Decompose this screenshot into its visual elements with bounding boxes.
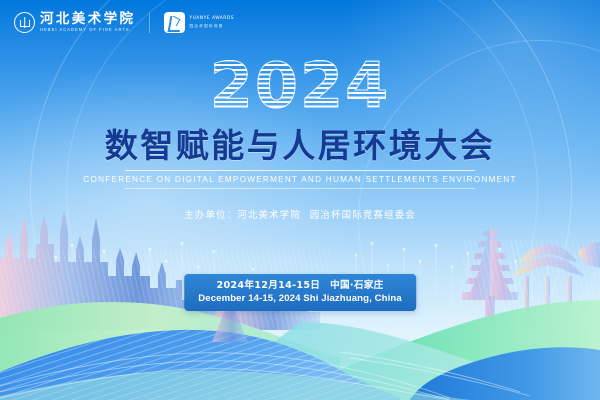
header-logo-bar: 河北美术学院 HEBEI ACADEMY OF FINE ARTS YUANYE…: [14, 12, 234, 33]
title-rule-bottom: [125, 188, 475, 189]
title-rule-top: [125, 170, 475, 171]
university-logo[interactable]: 河北美术学院 HEBEI ACADEMY OF FINE ARTS: [14, 12, 135, 33]
page-subtitle: CONFERENCE ON DIGITAL EMPOWERMENT AND HU…: [0, 174, 600, 186]
hill-foreground-deep: [410, 347, 600, 400]
hill-front-wash: [0, 370, 470, 400]
date-cn-text: 2024年12月14-15日 中国·石家庄: [198, 279, 402, 292]
hero-title-block: 数智赋能与人居环境大会 CONFERENCE ON DIGITAL EMPOWE…: [0, 126, 600, 189]
date-en-text: December 14-15, 2024 Shi Jiazhuang, Chin…: [198, 292, 402, 305]
page-title: 数智赋能与人居环境大会: [0, 126, 600, 166]
hill-far-right-green: [330, 300, 600, 400]
partner-name-cn: 园冶杯国际竞赛: [189, 24, 234, 29]
year-display: 2024: [0, 55, 600, 117]
organizer-label: 主办单位：: [184, 210, 237, 221]
hill-mid-blue: [0, 330, 400, 400]
hill-center-teal: [200, 322, 600, 400]
date-location-badge: 2024年12月14-15日 中国·石家庄 December 14-15, 20…: [184, 274, 416, 311]
partner-name-en: YUANYE AWARDS: [189, 16, 234, 22]
conference-poster: 河北美术学院 HEBEI ACADEMY OF FINE ARTS YUANYE…: [0, 0, 600, 400]
logo-divider: [149, 13, 150, 33]
yuanye-award-mark-icon: [164, 12, 185, 33]
organizer-name-1: 河北美术学院: [237, 210, 301, 221]
university-name-en: HEBEI ACADEMY OF FINE ARTS: [40, 28, 135, 33]
hill-far-left-green: [0, 302, 340, 400]
organizer-name-2: 园冶杯国际竞赛组委会: [310, 210, 416, 221]
flow-lines: [0, 352, 530, 400]
organizer-line: 主办单位：河北美术学院园冶杯国际竞赛组委会: [0, 207, 600, 221]
university-name-cn: 河北美术学院: [40, 12, 135, 26]
european-castle-skyline: [0, 210, 330, 330]
year-text: 2024: [210, 55, 391, 117]
chinese-pagoda: [462, 226, 522, 330]
chinese-pavilion: [510, 240, 600, 330]
hebei-academy-seal-icon: [14, 12, 35, 33]
hill-mid-blue-stripes: [0, 330, 400, 400]
partner-logo[interactable]: YUANYE AWARDS 园冶杯国际竞赛: [164, 12, 234, 33]
